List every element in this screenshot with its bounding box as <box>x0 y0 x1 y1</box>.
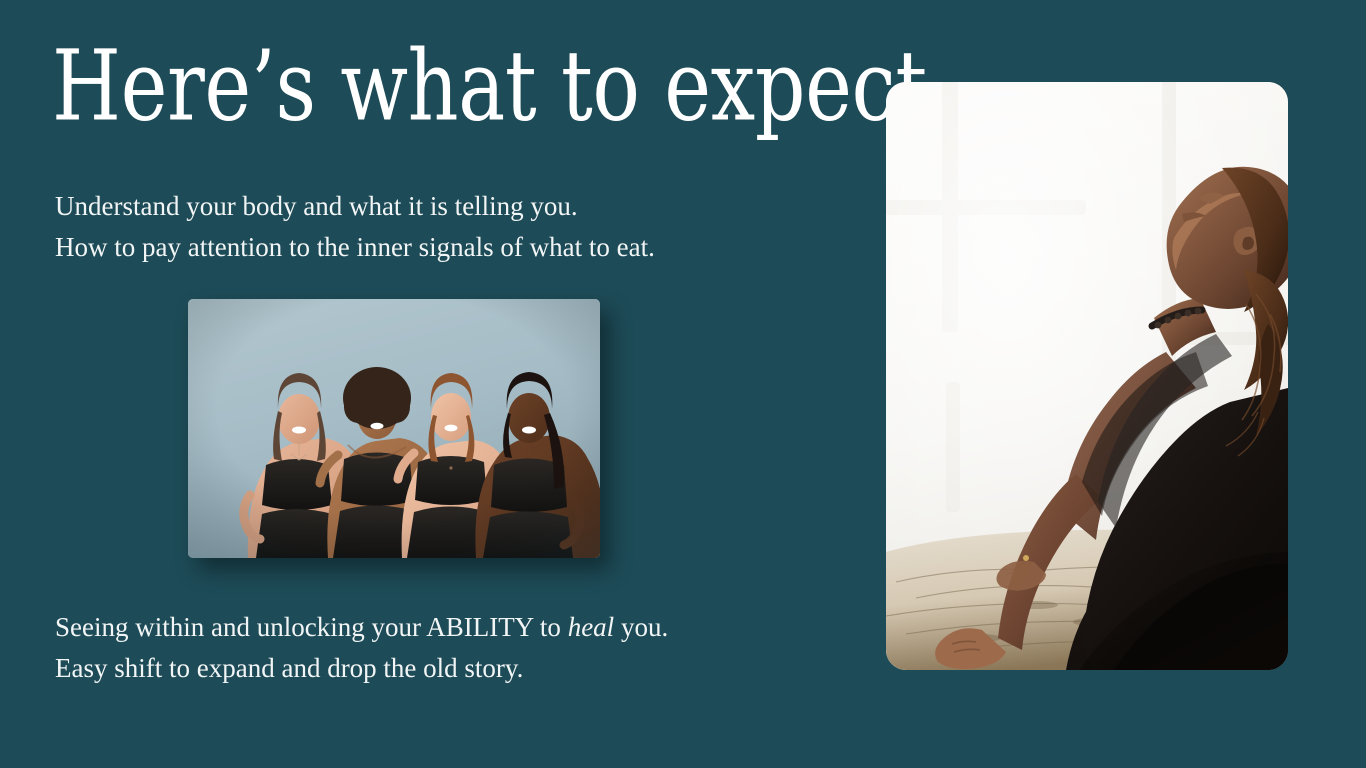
group-photo-artwork <box>188 299 600 558</box>
intro-line-1: Understand your body and what it is tell… <box>55 186 655 227</box>
closing-line-1-emphasis: heal <box>568 612 615 642</box>
intro-line-2: How to pay attention to the inner signal… <box>55 227 655 268</box>
intro-text-block: Understand your body and what it is tell… <box>55 186 655 268</box>
closing-line-1-part-a: Seeing within and unlocking your ABILITY… <box>55 612 568 642</box>
yoga-photo-artwork <box>886 82 1288 670</box>
slide-canvas: Here’s what to expect Understand your bo… <box>0 0 1366 768</box>
closing-line-1: Seeing within and unlocking your ABILITY… <box>55 607 668 648</box>
yoga-upward-dog-photo <box>886 82 1288 670</box>
closing-text-block: Seeing within and unlocking your ABILITY… <box>55 607 668 689</box>
four-women-group-photo <box>188 299 600 558</box>
closing-line-1-part-b: you. <box>614 612 668 642</box>
closing-line-2: Easy shift to expand and drop the old st… <box>55 648 668 689</box>
page-title: Here’s what to expect <box>52 38 927 136</box>
